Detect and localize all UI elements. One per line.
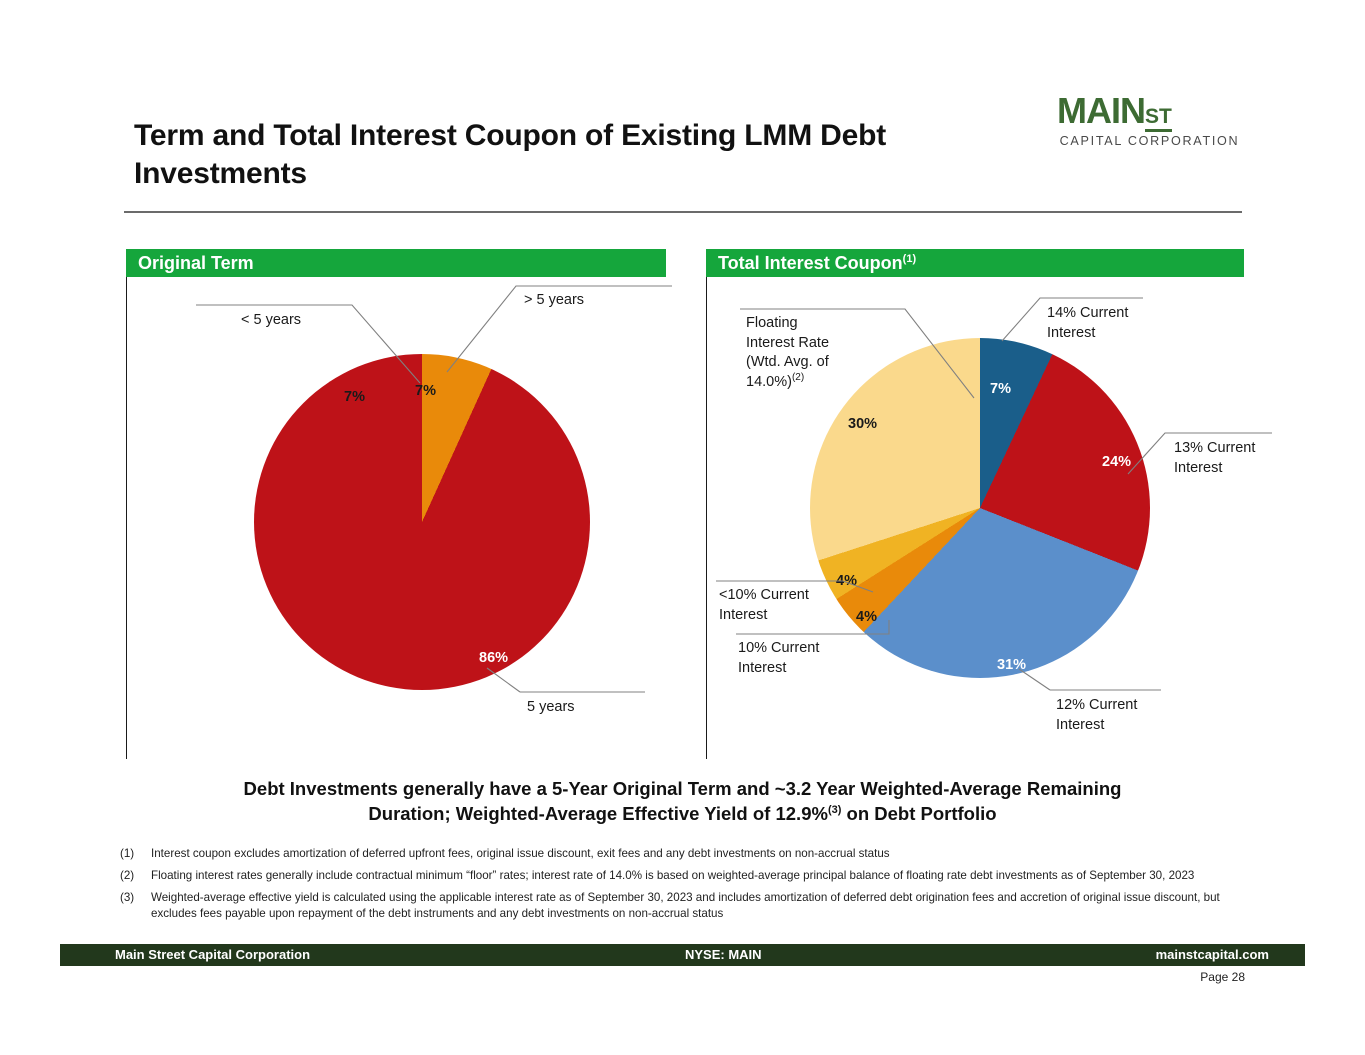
- callout-left-gt5: > 5 years: [524, 291, 584, 311]
- footnote-1: (1) Interest coupon excludes amortizatio…: [120, 846, 1265, 862]
- caption-footnote-ref: (3): [828, 804, 841, 816]
- caption-line-2b: on Debt Portfolio: [841, 803, 996, 824]
- pie-left-value-gt5: 7%: [415, 383, 436, 399]
- page-title: Term and Total Interest Coupon of Existi…: [134, 117, 954, 194]
- panel-right-axis-line: [706, 277, 707, 759]
- footer-website[interactable]: mainstcapital.com: [1156, 944, 1269, 966]
- panel-heading-original-term: Original Term: [126, 249, 666, 277]
- panel-heading-total-interest-coupon: Total Interest Coupon(1): [706, 249, 1244, 277]
- logo-main-text: MAIN: [1057, 90, 1145, 131]
- footnote-1-text: Interest coupon excludes amortization of…: [151, 846, 1265, 862]
- logo-wordmark: MAINST: [1057, 93, 1242, 129]
- logo-st-text: ST: [1145, 105, 1172, 132]
- callout-right-floating-footnote-ref: (2): [792, 372, 804, 383]
- panel-heading-left-label: Original Term: [138, 253, 254, 273]
- callout-right-lt10: <10% Current Interest: [719, 586, 809, 625]
- caption-line-2a: Duration; Weighted-Average Effective Yie…: [368, 803, 828, 824]
- logo-subtitle: CAPITAL CORPORATION: [1057, 134, 1242, 148]
- caption-line-1: Debt Investments generally have a 5-Year…: [244, 778, 1122, 799]
- pie-left-value-lt5: 7%: [344, 389, 365, 405]
- callout-right-floating-text: Floating Interest Rate (Wtd. Avg. of 14.…: [746, 315, 829, 390]
- callout-right-10: 10% Current Interest: [738, 639, 819, 678]
- pie-right-value-10: 4%: [856, 609, 877, 625]
- pie-right-value-12: 31%: [997, 657, 1026, 673]
- callout-left-lt5: < 5 years: [241, 311, 301, 331]
- footer-bar: Main Street Capital Corporation NYSE: MA…: [60, 944, 1305, 966]
- callout-right-14: 14% Current Interest: [1047, 304, 1128, 343]
- callout-right-12: 12% Current Interest: [1056, 696, 1137, 735]
- callout-right-floating: Floating Interest Rate (Wtd. Avg. of 14.…: [746, 314, 886, 392]
- title-divider: [124, 211, 1242, 213]
- summary-caption: Debt Investments generally have a 5-Year…: [150, 776, 1215, 826]
- pie-left-value-eq5: 86%: [479, 650, 508, 666]
- panel-heading-right-footnote-ref: (1): [903, 253, 916, 265]
- pie-right-value-13: 24%: [1102, 454, 1131, 470]
- footnote-2: (2) Floating interest rates generally in…: [120, 868, 1265, 884]
- footnote-2-number: (2): [120, 868, 151, 884]
- pie-chart-original-term: [254, 354, 590, 690]
- footnote-1-number: (1): [120, 846, 151, 862]
- slide: Term and Total Interest Coupon of Existi…: [0, 0, 1365, 1055]
- page-number: Page 28: [1200, 970, 1245, 984]
- pie-right-value-floating: 30%: [848, 416, 877, 432]
- footnote-3-text: Weighted-average effective yield is calc…: [151, 890, 1265, 922]
- pie-right-value-lt10: 4%: [836, 573, 857, 589]
- footnote-3: (3) Weighted-average effective yield is …: [120, 890, 1265, 922]
- pie-right-value-14: 7%: [990, 381, 1011, 397]
- footnote-3-number: (3): [120, 890, 151, 922]
- footnotes-list: (1) Interest coupon excludes amortizatio…: [120, 846, 1265, 928]
- main-street-capital-logo: MAINST CAPITAL CORPORATION: [1057, 93, 1242, 155]
- footer-ticker: NYSE: MAIN: [685, 944, 762, 966]
- callout-left-eq5: 5 years: [527, 698, 575, 718]
- panel-left-axis-line: [126, 277, 127, 759]
- footnote-2-text: Floating interest rates generally includ…: [151, 868, 1265, 884]
- footer-company-name: Main Street Capital Corporation: [115, 944, 310, 966]
- panel-heading-right-label: Total Interest Coupon: [718, 253, 903, 273]
- callout-right-13: 13% Current Interest: [1174, 439, 1255, 478]
